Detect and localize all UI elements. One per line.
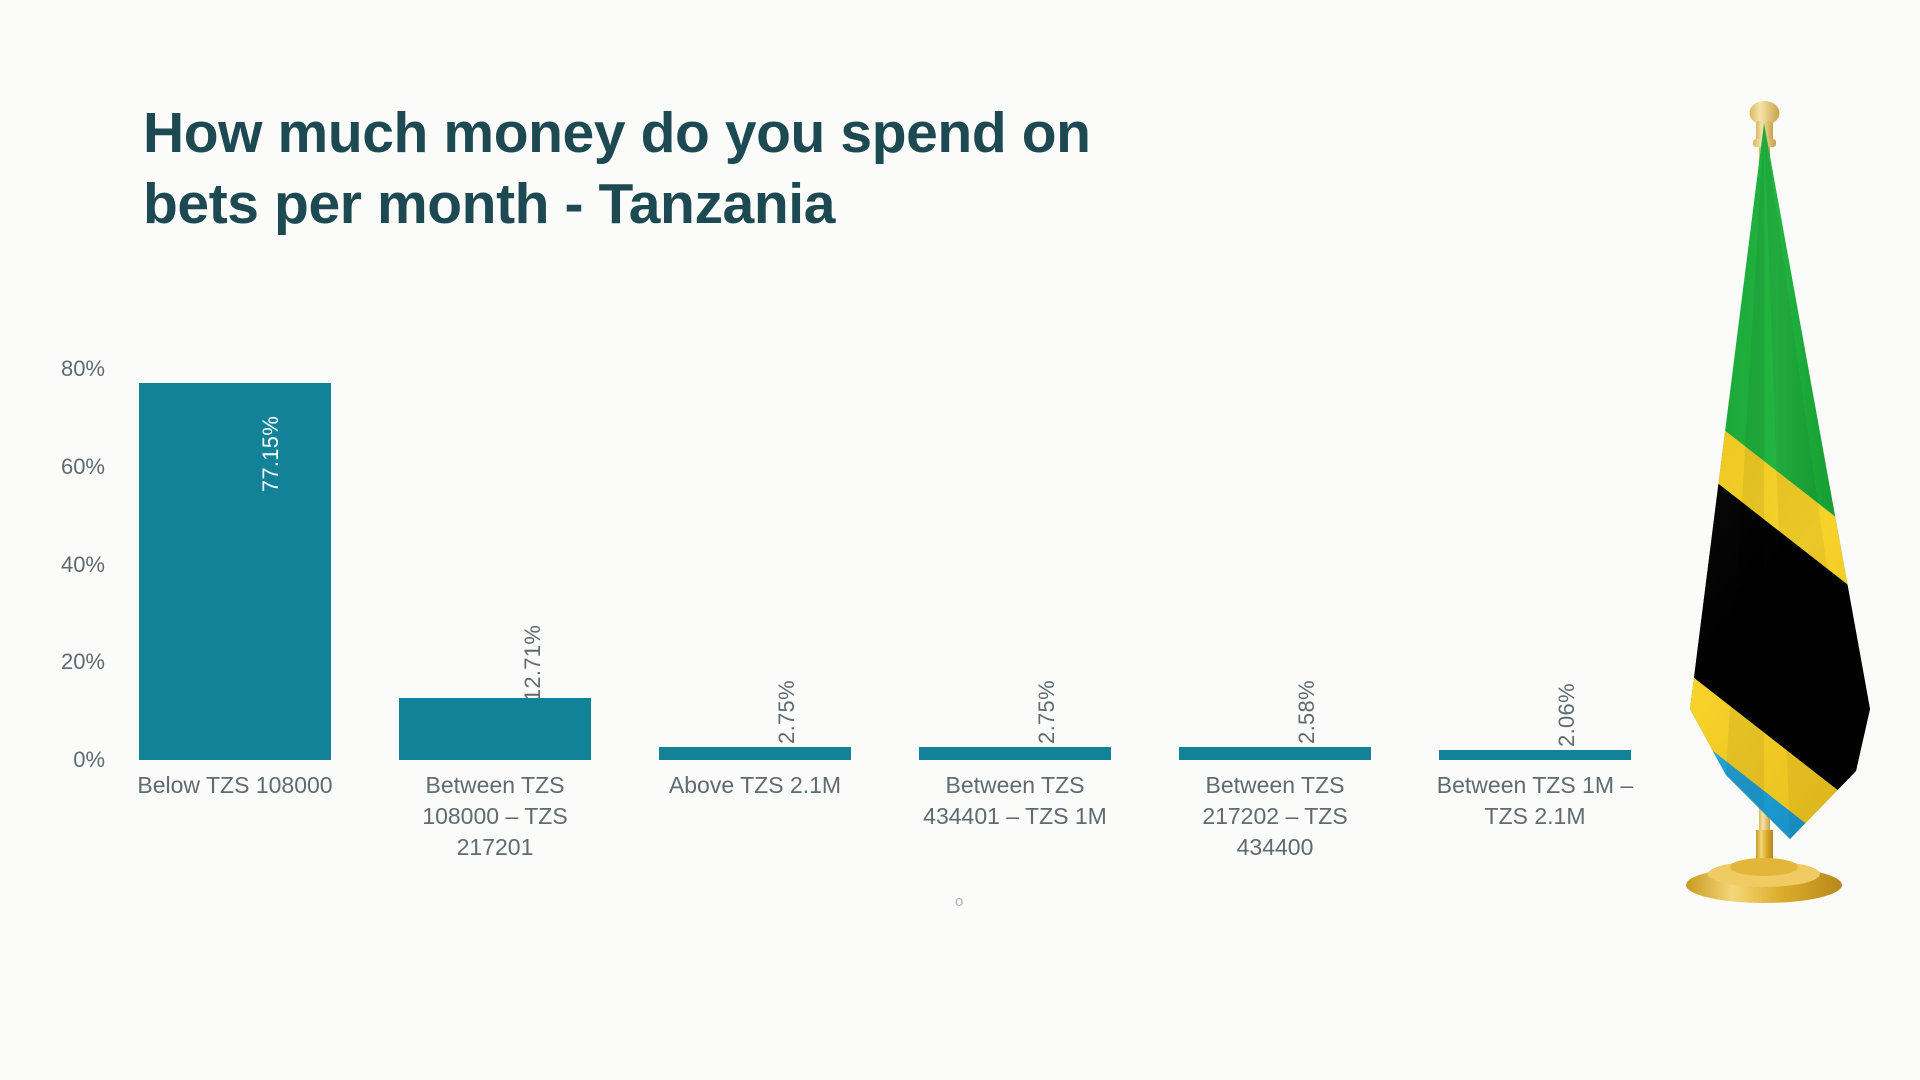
y-axis: 80%60%40%20%0% (0, 330, 105, 760)
bar-value-label: 2.06% (1554, 683, 1580, 747)
bar-value-label: 2.75% (1034, 680, 1060, 744)
y-axis-tick: 20% (31, 649, 105, 675)
bar-slot: 2.75% (625, 330, 885, 760)
tanzania-flag-icon (1660, 95, 1920, 985)
x-axis-category-label: Above TZS 2.1M (625, 770, 885, 863)
bar[interactable] (1439, 750, 1631, 760)
bar-series: 77.15%12.71%2.75%2.75%2.58%2.06% (105, 330, 1665, 760)
x-axis-category-label: Between TZS 1M – TZS 2.1M (1405, 770, 1665, 863)
bar-value-label: 77.15% (258, 416, 284, 492)
page-title: How much money do you spend on bets per … (143, 98, 1323, 241)
title-line-1: How much money do you spend on (143, 98, 1323, 169)
bar-slot: 77.15% (105, 330, 365, 760)
stray-glyph: o (955, 893, 963, 910)
bar[interactable] (1179, 747, 1371, 760)
bar-chart: 80%60%40%20%0% 77.15%12.71%2.75%2.75%2.5… (0, 330, 1700, 970)
tanzania-flag (1660, 95, 1920, 985)
bar[interactable] (399, 698, 591, 760)
bar-value-label: 12.71% (520, 625, 546, 701)
x-axis-labels: Below TZS 108000Between TZS 108000 – TZS… (105, 770, 1665, 863)
y-axis-tick: 40% (31, 552, 105, 578)
y-axis-tick: 0% (31, 747, 105, 773)
bar[interactable] (919, 747, 1111, 760)
x-axis-category-label: Below TZS 108000 (105, 770, 365, 863)
bar-slot: 2.75% (885, 330, 1145, 760)
bar-value-label: 2.58% (1294, 680, 1320, 744)
x-axis-category-label: Between TZS 108000 – TZS 217201 (365, 770, 625, 863)
bar-slot: 12.71% (365, 330, 625, 760)
x-axis-category-label: Between TZS 217202 – TZS 434400 (1145, 770, 1405, 863)
y-axis-tick: 60% (31, 454, 105, 480)
bar-value-label: 2.75% (774, 680, 800, 744)
x-axis-category-label: Between TZS 434401 – TZS 1M (885, 770, 1145, 863)
y-axis-tick: 80% (31, 356, 105, 382)
slide-canvas: How much money do you spend on bets per … (0, 0, 1920, 1080)
plot-area: 77.15%12.71%2.75%2.75%2.58%2.06% (105, 330, 1665, 760)
bar[interactable]: 77.15% (139, 383, 331, 760)
title-line-2: bets per month - Tanzania (143, 169, 1323, 240)
bar[interactable] (659, 747, 851, 760)
bar-slot: 2.58% (1145, 330, 1405, 760)
bar-slot: 2.06% (1405, 330, 1665, 760)
